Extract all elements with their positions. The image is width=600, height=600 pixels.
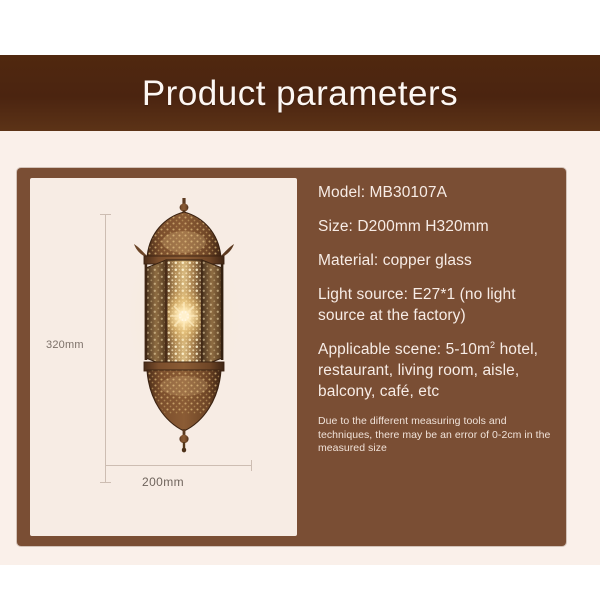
width-dimension-cap-left — [105, 460, 106, 471]
width-dimension-label: 200mm — [142, 475, 184, 489]
spec-applicable-scene: Applicable scene: 5-10m2 hotel, restaura… — [318, 339, 556, 402]
width-dimension-line — [105, 465, 251, 466]
height-dimension-label: 320mm — [46, 339, 84, 351]
height-dimension-line — [105, 214, 106, 482]
lantern-bottom-finial — [179, 429, 188, 452]
spec-light-source: Light source: E27*1 (no light source at … — [318, 284, 556, 326]
height-dimension-cap-bottom — [100, 482, 111, 483]
header-banner: Product parameters — [0, 55, 600, 131]
height-dimension-cap-top — [100, 214, 111, 215]
spec-card: 320mm 200mm Model: MB30107A Size: D200mm… — [17, 168, 566, 546]
spec-model: Model: MB30107A — [318, 182, 556, 203]
product-image-panel: 320mm 200mm — [30, 178, 297, 536]
spec-size: Size: D200mm H320mm — [318, 216, 556, 237]
lantern-illustration — [118, 198, 250, 460]
page-title: Product parameters — [142, 76, 458, 111]
product-parameters-page: Product parameters — [0, 0, 600, 600]
measurement-disclaimer: Due to the different measuring tools and… — [318, 415, 556, 456]
spec-material: Material: copper glass — [318, 250, 556, 271]
product-image — [118, 198, 250, 460]
spec-scene-prefix: Applicable scene: 5-10m — [318, 341, 490, 358]
width-dimension-cap-right — [251, 460, 252, 471]
spec-list: Model: MB30107A Size: D200mm H320mm Mate… — [318, 182, 556, 456]
lantern-bottom-dome — [146, 368, 222, 431]
